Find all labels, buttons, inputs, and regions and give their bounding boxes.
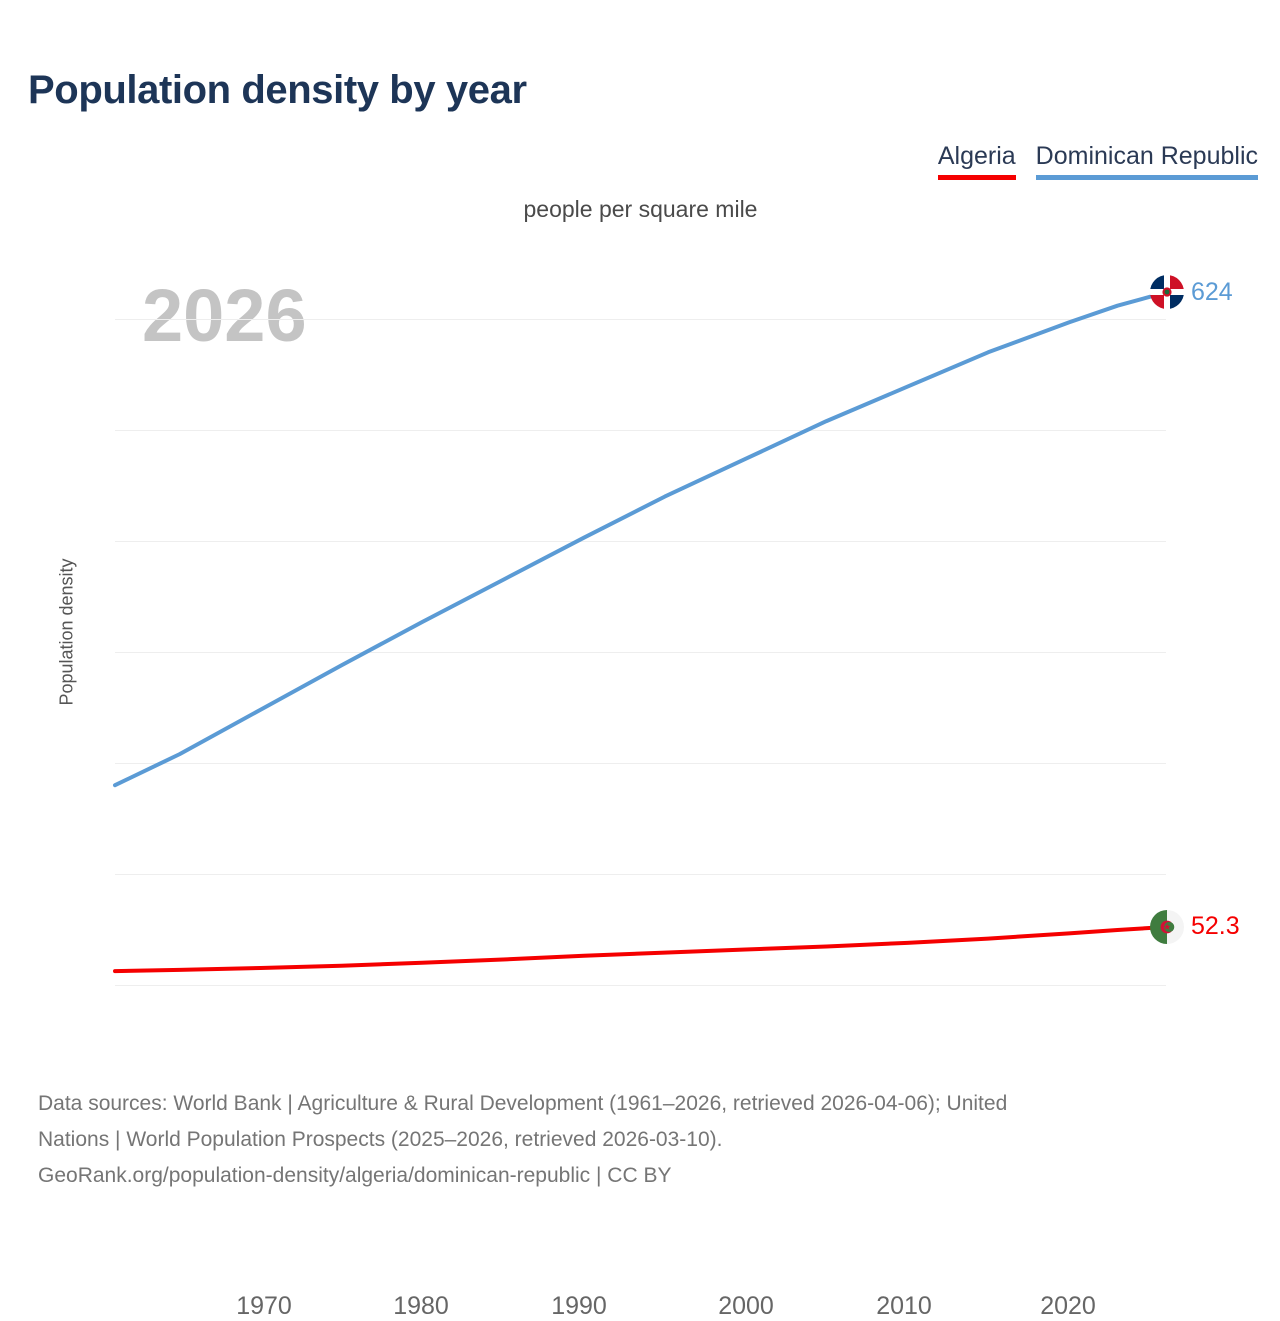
end-marker-dominican-republic: 624 [1150, 275, 1233, 309]
chart-legend: Algeria Dominican Republic [938, 143, 1258, 180]
footer-line-3: GeoRank.org/population-density/algeria/d… [38, 1158, 1258, 1194]
x-tick-label-1970: 1970 [236, 1292, 292, 1321]
footer-line-2: Nations | World Population Prospects (20… [38, 1122, 1258, 1158]
footer-line-1: Data sources: World Bank | Agriculture &… [38, 1086, 1258, 1122]
page-title: Population density by year [28, 68, 527, 113]
series-plot [115, 280, 1166, 985]
legend-item-dominican-republic[interactable]: Dominican Republic [1036, 143, 1258, 180]
dominican-republic-flag-icon [1150, 275, 1184, 309]
y-axis-title: Population density [57, 558, 78, 705]
end-value-dominican-republic: 624 [1191, 278, 1233, 307]
footer-sources: Data sources: World Bank | Agriculture &… [38, 1086, 1258, 1194]
line-algeria [115, 927, 1166, 971]
legend-item-algeria[interactable]: Algeria [938, 143, 1016, 180]
line-dominican-republic [115, 292, 1166, 785]
chart-subtitle: people per square mile [115, 196, 1166, 223]
x-tick-label-1990: 1990 [551, 1292, 607, 1321]
x-tick-label-2020: 2020 [1040, 1292, 1096, 1321]
end-marker-algeria: 52.3 [1150, 910, 1240, 944]
x-tick-label-2000: 2000 [718, 1292, 774, 1321]
algeria-flag-icon [1150, 910, 1184, 944]
x-tick-label-1980: 1980 [393, 1292, 449, 1321]
chart-page: Population density by year Algeria Domin… [0, 0, 1280, 1280]
plot-area: 2026 0 100 200 300 400 500 600 Populatio… [115, 280, 1166, 985]
x-tick-label-2010: 2010 [876, 1292, 932, 1321]
end-value-algeria: 52.3 [1191, 912, 1240, 941]
gridline-0 [115, 985, 1166, 986]
